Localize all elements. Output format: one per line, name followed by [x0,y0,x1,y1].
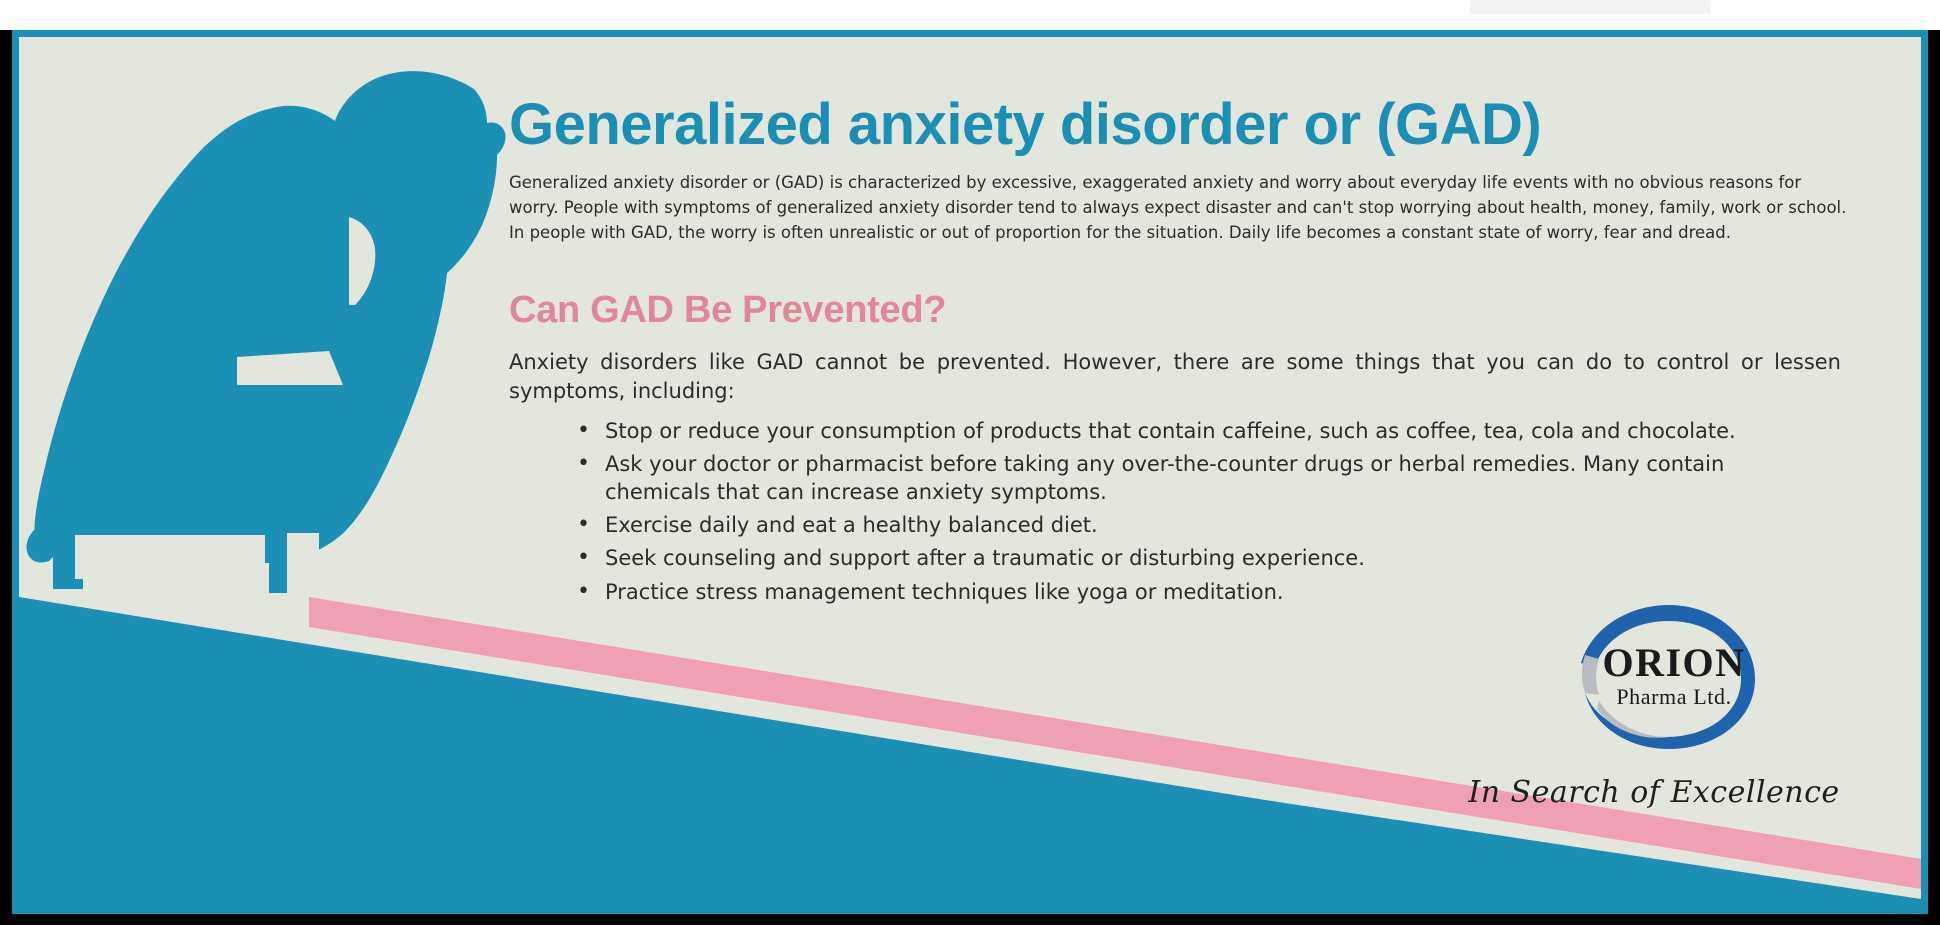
top-strip-shade [1470,0,1710,14]
prevention-tips-list: Stop or reduce your consumption of produ… [577,418,1827,606]
slide-teal-frame: Generalized anxiety disorder or (GAD) Ge… [12,30,1928,914]
list-item: Stop or reduce your consumption of produ… [577,418,1827,445]
section-heading: Can GAD Be Prevented? [509,289,1889,332]
slide-canvas: Generalized anxiety disorder or (GAD) Ge… [19,37,1921,907]
logo-brand-name: ORION [1569,643,1779,683]
top-white-strip [0,0,1940,30]
logo-tagline: In Search of Excellence [1419,775,1889,810]
slide-content: Generalized anxiety disorder or (GAD) Ge… [509,95,1889,612]
logo-brand-sub: Pharma Ltd. [1569,686,1779,708]
list-item: Ask your doctor or pharmacist before tak… [577,451,1827,506]
logo-wordmark: ORION Pharma Ltd. [1569,643,1779,708]
intro-paragraph: Generalized anxiety disorder or (GAD) is… [509,170,1849,245]
list-item: Seek counseling and support after a trau… [577,545,1827,572]
page-title: Generalized anxiety disorder or (GAD) [509,95,1889,156]
list-item: Exercise daily and eat a healthy balance… [577,512,1827,539]
company-logo: ORION Pharma Ltd. In Search of Excellenc… [1419,597,1889,887]
section-intro-paragraph: Anxiety disorders like GAD cannot be pre… [509,348,1841,406]
screenshot-root: Generalized anxiety disorder or (GAD) Ge… [0,0,1940,925]
